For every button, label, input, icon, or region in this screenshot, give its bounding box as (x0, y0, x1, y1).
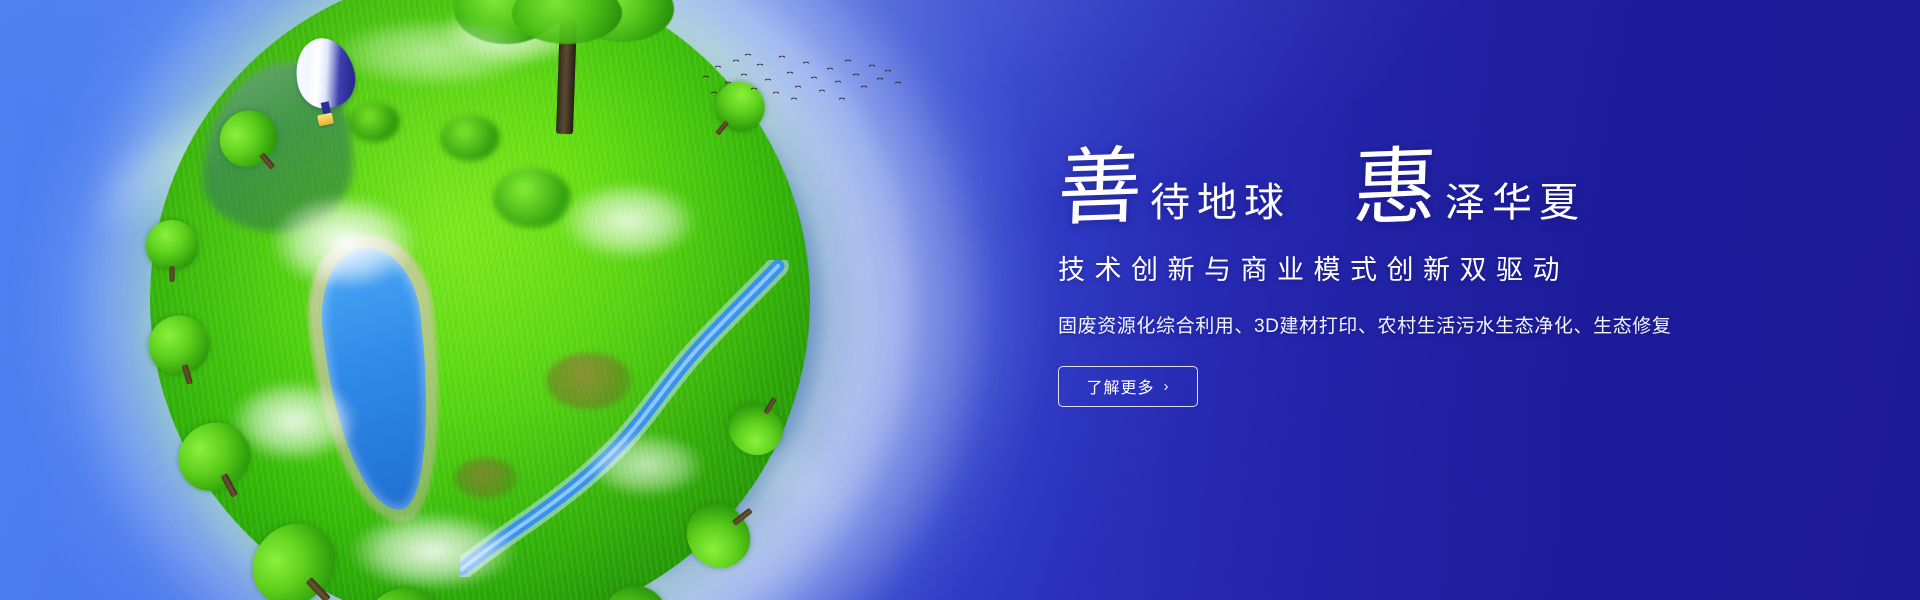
headline-small-text-1: 待地球 (1150, 183, 1291, 223)
headline-big-char-1: 善 (1057, 149, 1144, 227)
headline-group-2: 惠 泽华夏 (1353, 150, 1586, 226)
page-title: 善 待地球 惠 泽华夏 (1058, 150, 1778, 226)
headline-small-text-2: 泽华夏 (1445, 183, 1586, 223)
hero-banner: 善 待地球 惠 泽华夏 技术创新与商业模式创新双驱动 固废资源化综合利用、3D建… (0, 0, 1920, 600)
hero-content: 善 待地球 惠 泽华夏 技术创新与商业模式创新双驱动 固废资源化综合利用、3D建… (1058, 150, 1778, 407)
headline-group-1: 善 待地球 (1058, 150, 1291, 226)
chevron-right-icon: › (1164, 379, 1170, 394)
learn-more-label: 了解更多 (1086, 374, 1154, 398)
subtitle: 技术创新与商业模式创新双驱动 (1058, 248, 1778, 287)
learn-more-button[interactable]: 了解更多 › (1058, 366, 1198, 407)
description: 固废资源化综合利用、3D建材打印、农村生活污水生态净化、生态修复 (1058, 311, 1778, 338)
headline-big-char-2: 惠 (1352, 149, 1439, 227)
